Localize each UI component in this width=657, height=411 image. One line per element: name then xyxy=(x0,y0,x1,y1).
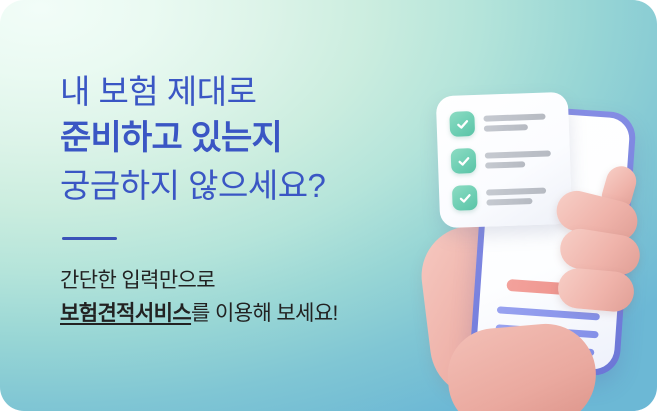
subcopy-line-1: 간단한 입력만으로 xyxy=(60,264,420,297)
checklist-card xyxy=(436,92,573,229)
checklist-row xyxy=(451,145,558,174)
text-bar xyxy=(486,187,546,195)
finger-shape xyxy=(556,267,635,313)
headline-line-1: 내 보험 제대로 xyxy=(60,68,420,115)
text-bar xyxy=(485,150,551,158)
text-bar xyxy=(486,198,532,206)
checklist-text-bars xyxy=(485,150,552,168)
checklist-row xyxy=(452,182,559,211)
subcopy-line-2: 보험견적서비스를 이용해 보세요! xyxy=(60,297,420,330)
subcopy-line-2-rest: 를 이용해 보세요! xyxy=(191,302,338,325)
banner-copy: 내 보험 제대로 준비하고 있는지 궁금하지 않으세요? 간단한 입력만으로 보… xyxy=(60,68,420,330)
check-icon xyxy=(451,148,477,174)
checklist-text-bars xyxy=(483,113,546,131)
service-name-link[interactable]: 보험견적서비스 xyxy=(60,302,191,325)
checklist-row xyxy=(449,108,556,137)
hand-holding-phone-illustration xyxy=(408,74,657,411)
divider-rule xyxy=(62,237,117,240)
promo-banner[interactable]: 내 보험 제대로 준비하고 있는지 궁금하지 않으세요? 간단한 입력만으로 보… xyxy=(0,0,657,411)
headline-line-3: 궁금하지 않으세요? xyxy=(60,162,420,209)
text-bar xyxy=(483,113,545,121)
headline-line-2: 준비하고 있는지 xyxy=(60,115,420,162)
headline: 내 보험 제대로 준비하고 있는지 궁금하지 않으세요? xyxy=(60,68,420,209)
subcopy: 간단한 입력만으로 보험견적서비스를 이용해 보세요! xyxy=(60,264,420,330)
check-icon xyxy=(449,111,475,137)
text-bar xyxy=(485,161,525,168)
check-icon xyxy=(452,185,478,211)
checklist-text-bars xyxy=(486,187,547,205)
text-bar xyxy=(484,124,528,132)
